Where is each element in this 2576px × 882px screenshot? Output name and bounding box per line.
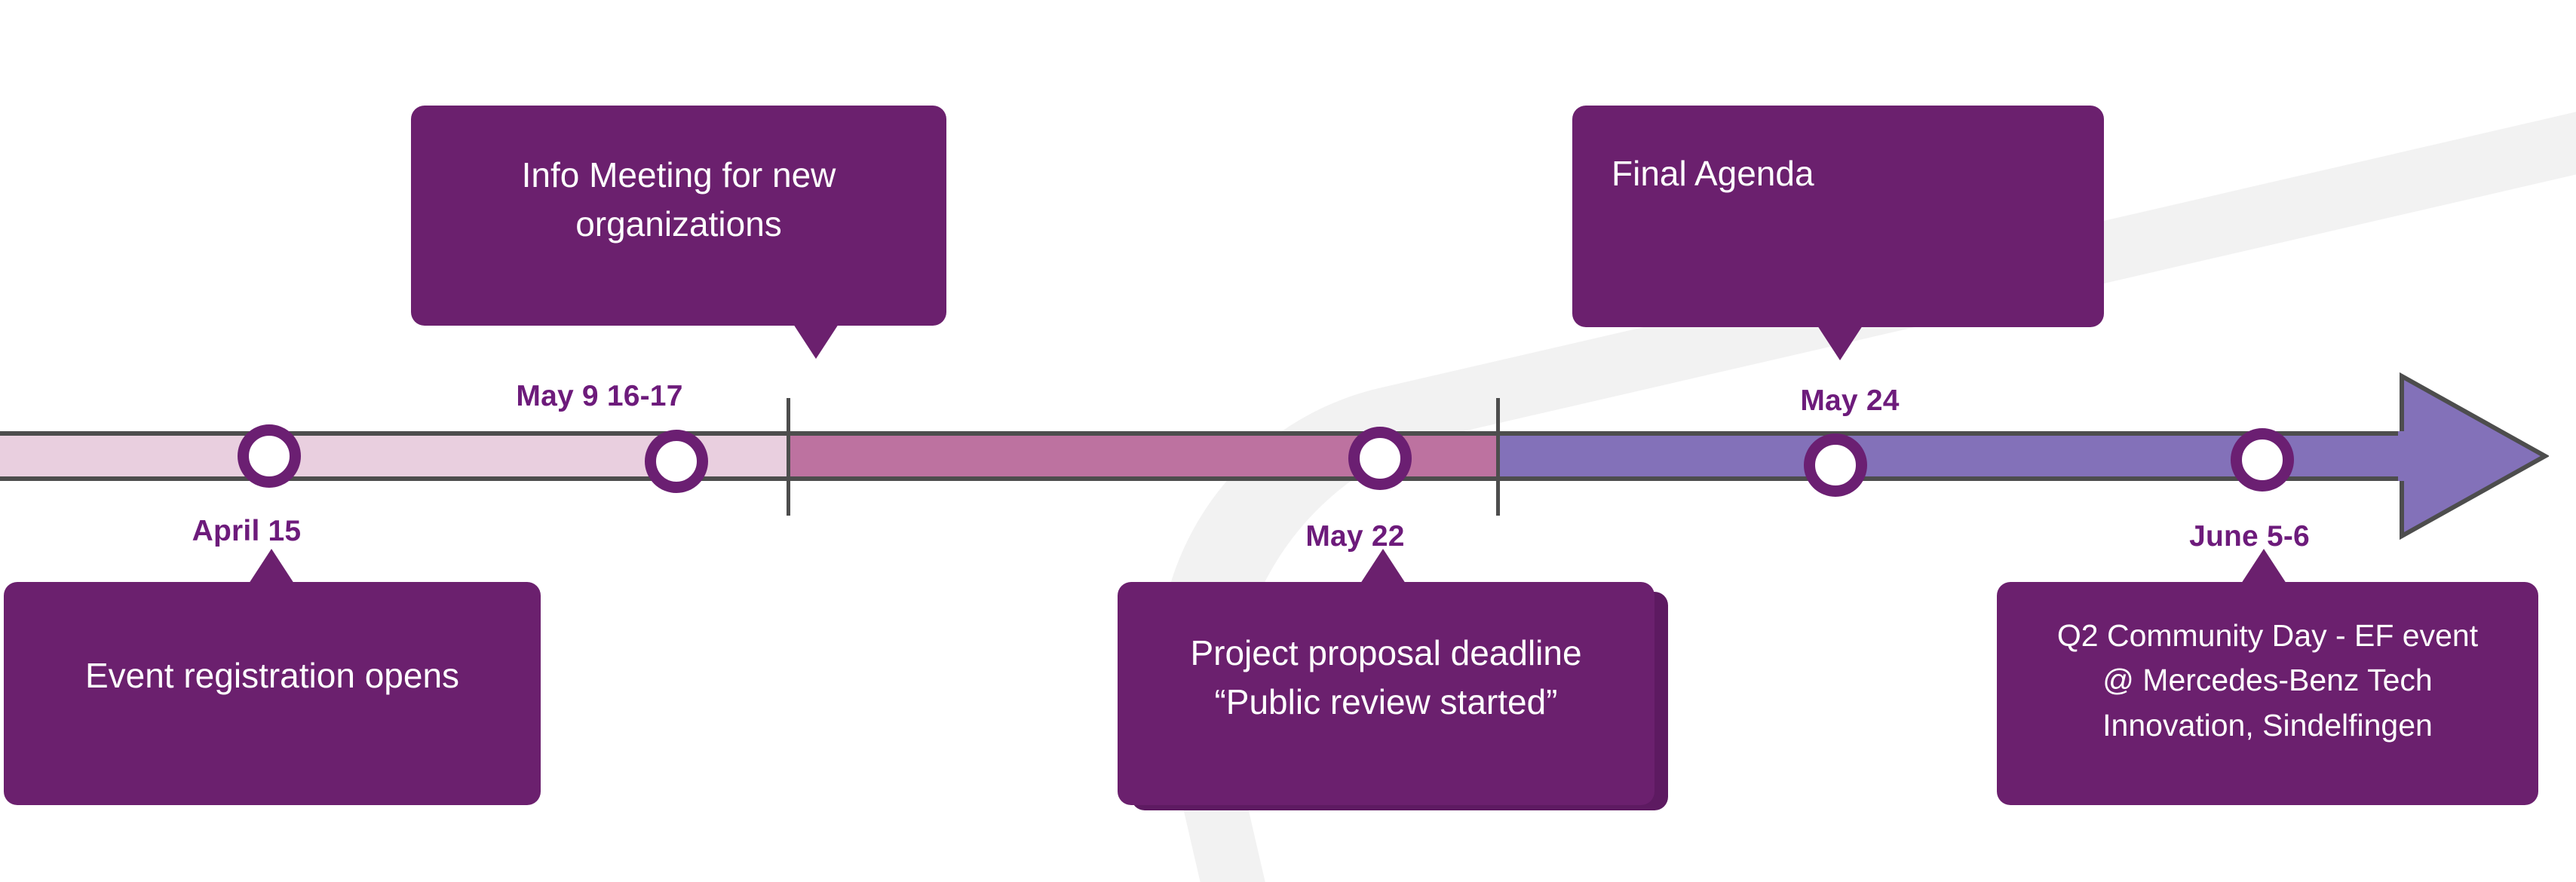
callout-final-agenda-text: Final Agenda	[1572, 149, 2104, 198]
callout-event-registration-text: Event registration opens	[4, 651, 541, 700]
callout-project-proposal-text: Project proposal deadline “Public review…	[1118, 629, 1654, 727]
callout-project-proposal[interactable]: Project proposal deadline “Public review…	[1118, 582, 1654, 805]
callout-event-registration[interactable]: Event registration opens	[4, 582, 541, 805]
timeline-diagram: April 15 May 9 16-17 May 22 May 24 June …	[0, 0, 2576, 882]
callout-event-registration-tail	[249, 549, 294, 583]
date-label-may-24: May 24	[1800, 384, 1899, 418]
callout-project-proposal-tail	[1360, 549, 1406, 583]
milestone-marker-april-15[interactable]	[238, 424, 301, 488]
callout-info-meeting[interactable]: Info Meeting for new organizations	[411, 106, 946, 326]
callout-info-meeting-tail	[793, 324, 839, 359]
segment-divider-tick-2	[1496, 398, 1500, 516]
callout-final-agenda-tail	[1817, 326, 1863, 360]
callout-final-agenda[interactable]: Final Agenda	[1572, 106, 2104, 327]
callout-community-day-tail	[2241, 549, 2286, 583]
callout-community-day[interactable]: Q2 Community Day - EF event @ Mercedes-B…	[1997, 582, 2538, 805]
date-label-may-9-16-17: May 9 16-17	[516, 380, 682, 413]
segment-divider-tick-1	[787, 398, 790, 516]
milestone-marker-may-24[interactable]	[1804, 433, 1867, 497]
callout-community-day-text: Q2 Community Day - EF event @ Mercedes-B…	[1997, 614, 2538, 748]
milestone-marker-may-9-16-17[interactable]	[645, 430, 708, 493]
date-label-april-15: April 15	[192, 515, 302, 548]
milestone-marker-may-22[interactable]	[1348, 427, 1412, 490]
timeline-arrow-icon	[2398, 372, 2549, 540]
milestone-marker-june-5-6[interactable]	[2231, 428, 2294, 492]
callout-info-meeting-text: Info Meeting for new organizations	[411, 151, 946, 250]
